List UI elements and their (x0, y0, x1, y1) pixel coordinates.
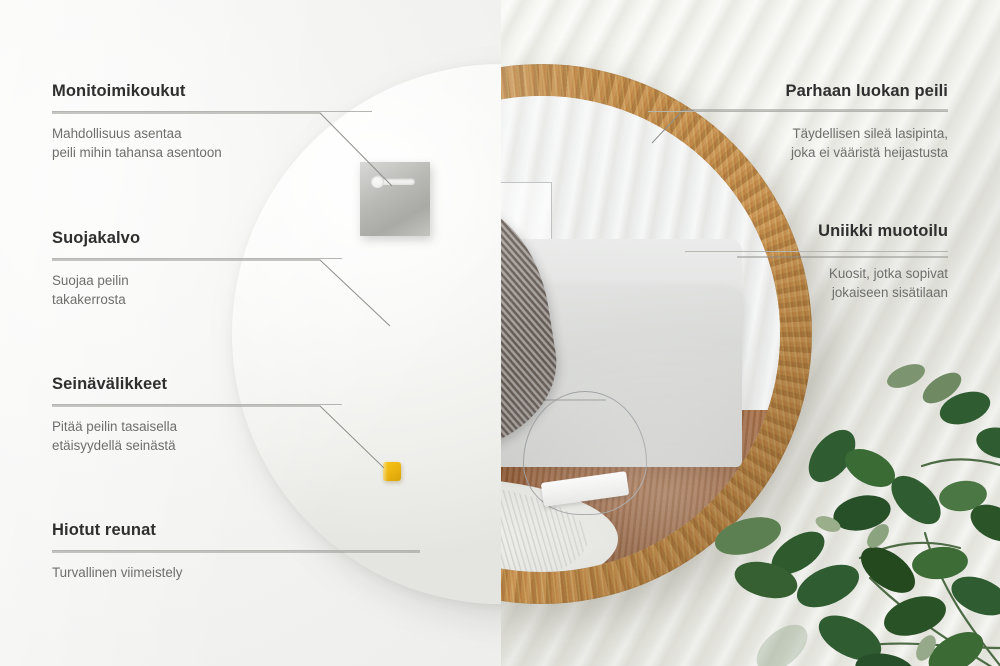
wall-spacer-hotspot (383, 462, 401, 481)
callout-rule (648, 111, 948, 112)
callout-title: Uniikki muotoilu (685, 222, 948, 242)
callout-description: Kuosit, jotka sopivat jokaiseen sisätila… (685, 264, 948, 302)
callout-title: Monitoimikoukut (52, 82, 372, 102)
callout-best-in-class-mirror: Parhaan luokan peili Täydellisen sileä l… (648, 82, 948, 162)
callout-description: Mahdollisuus asentaa peili mihin tahansa… (52, 124, 372, 162)
infographic-canvas: Monitoimikoukut Mahdollisuus asentaa pei… (0, 0, 1000, 666)
callout-title: Seinävälikkeet (52, 375, 342, 395)
callout-protective-film: Suojakalvo Suojaa peilin takakerrosta (52, 229, 342, 309)
callout-rule (52, 111, 372, 112)
mirror-glass (501, 96, 780, 572)
callout-polished-edges: Hiotut reunat Turvallinen viimeistely (52, 521, 420, 582)
callout-rule (52, 550, 420, 551)
callout-description: Suojaa peilin takakerrosta (52, 271, 342, 309)
callout-rule (685, 251, 948, 252)
callout-title: Suojakalvo (52, 229, 342, 249)
callout-title: Parhaan luokan peili (648, 82, 948, 102)
callout-rule (52, 258, 342, 259)
callout-description: Turvallinen viimeistely (52, 563, 420, 582)
keyhole-slot-icon (373, 178, 415, 185)
mounting-bracket-hotspot (360, 162, 430, 236)
callout-description: Täydellisen sileä lasipinta, joka ei vää… (648, 124, 948, 162)
callout-rule (52, 404, 342, 405)
callout-unique-design: Uniikki muotoilu Kuosit, jotka sopivat j… (685, 222, 948, 302)
callout-wall-spacers: Seinävälikkeet Pitää peilin tasaisella e… (52, 375, 342, 455)
callout-description: Pitää peilin tasaisella etäisyydellä sei… (52, 417, 342, 455)
callout-multifunctional-hooks: Monitoimikoukut Mahdollisuus asentaa pei… (52, 82, 372, 162)
callout-title: Hiotut reunat (52, 521, 420, 541)
reflected-room-scene (501, 96, 780, 572)
